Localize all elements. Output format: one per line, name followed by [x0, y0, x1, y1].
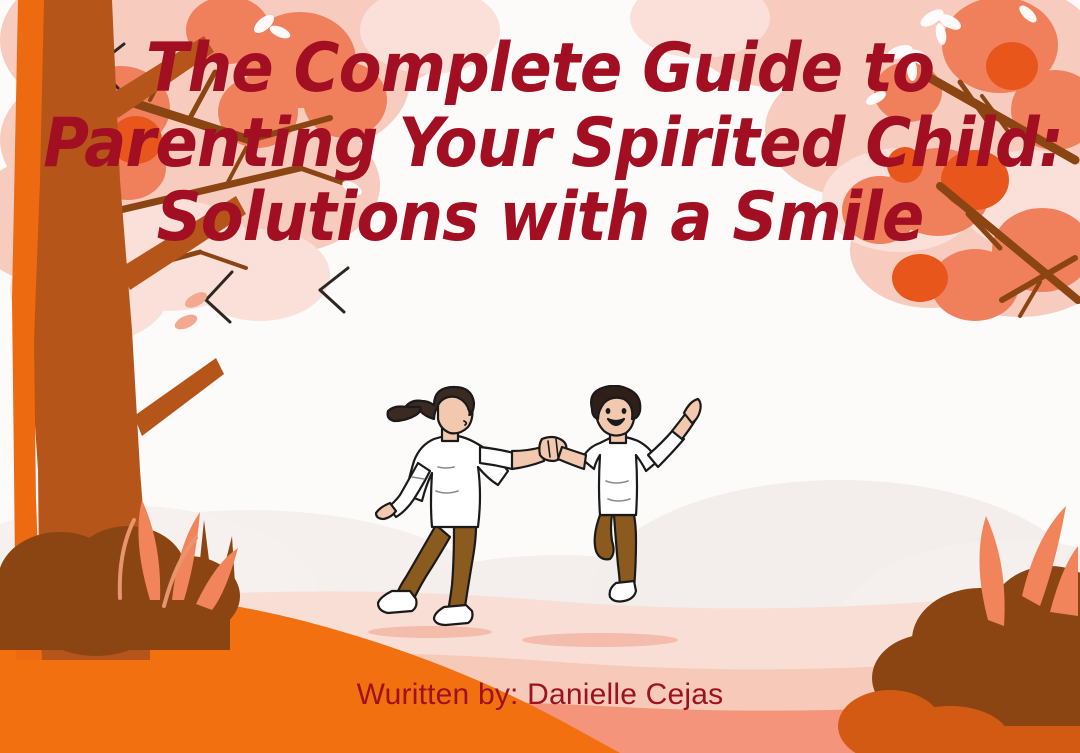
child-figure [558, 386, 701, 602]
mother-front-leg [448, 527, 476, 613]
mother-figure [376, 387, 544, 625]
author-credit: Wuritten by: Danielle Cejas [0, 678, 1080, 712]
mother-ponytail [388, 407, 421, 422]
mother-back-hand [376, 503, 396, 519]
child-left-arm [558, 447, 586, 469]
mother-back-shoe [378, 591, 417, 613]
mother-front-shoe [434, 605, 473, 625]
child-front-leg [614, 515, 636, 589]
child-shoe [610, 581, 636, 602]
child-shirt [582, 437, 658, 516]
child-back-leg [595, 515, 614, 559]
book-cover: The Complete Guide to Parenting Your Spi… [0, 0, 1080, 753]
mother-and-child-illustration [362, 385, 702, 655]
